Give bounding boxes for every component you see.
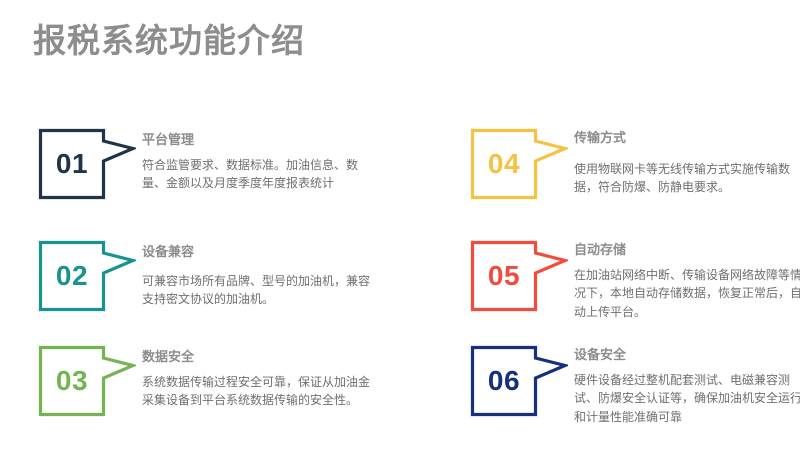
feature-heading-04: 传输方式 [574,130,800,146]
feature-text-01: 平台管理 符合监管要求、数据标准。加油信息、数量、金额以及月度季度年度报表统计 [142,132,372,193]
feature-heading-01: 平台管理 [142,132,372,148]
feature-item-05[interactable]: 05 自动存储 在加油站网络中断、传输设备网络故障等情况下，本地自动存储数据，恢… [470,240,800,345]
number-badge-06: 06 [470,345,568,417]
badge-number-06: 06 [470,345,538,417]
feature-body-04: 使用物联网卡等无线传输方式实施传输数据，符合防爆、防静电要求。 [574,160,800,197]
feature-text-04: 传输方式 使用物联网卡等无线传输方式实施传输数据，符合防爆、防静电要求。 [574,130,800,197]
badge-number-05: 05 [470,240,538,312]
feature-body-06: 硬件设备经过整机配套测试、电磁兼容测试、防爆安全认证等，确保加油机安全运行和计量… [574,371,800,427]
badge-number-01: 01 [38,128,106,200]
feature-body-01: 符合监管要求、数据标准。加油信息、数量、金额以及月度季度年度报表统计 [142,156,372,193]
feature-item-06[interactable]: 06 设备安全 硬件设备经过整机配套测试、电磁兼容测试、防爆安全认证等，确保加油… [470,345,800,450]
feature-text-03: 数据安全 系统数据传输过程安全可靠，保证从加油金采集设备到平台系统数据传输的安全… [142,349,372,410]
feature-item-03[interactable]: 03 数据安全 系统数据传输过程安全可靠，保证从加油金采集设备到平台系统数据传输… [38,345,378,450]
feature-heading-02: 设备兼容 [142,244,372,260]
feature-body-03: 系统数据传输过程安全可靠，保证从加油金采集设备到平台系统数据传输的安全性。 [142,373,372,410]
feature-item-02[interactable]: 02 设备兼容 可兼容市场所有品牌、型号的加油机，兼容支持密文协议的加油机。 [38,240,378,345]
badge-number-04: 04 [470,128,538,200]
feature-heading-05: 自动存储 [574,242,800,258]
feature-text-06: 设备安全 硬件设备经过整机配套测试、电磁兼容测试、防爆安全认证等，确保加油机安全… [574,347,800,426]
feature-text-02: 设备兼容 可兼容市场所有品牌、型号的加油机，兼容支持密文协议的加油机。 [142,244,372,309]
number-badge-05: 05 [470,240,568,312]
number-badge-02: 02 [38,240,136,312]
feature-heading-06: 设备安全 [574,347,800,363]
badge-number-03: 03 [38,345,106,417]
badge-number-02: 02 [38,240,106,312]
feature-body-02: 可兼容市场所有品牌、型号的加油机，兼容支持密文协议的加油机。 [142,272,372,309]
number-badge-01: 01 [38,128,136,200]
page-title: 报税系统功能介绍 [33,22,305,60]
feature-item-01[interactable]: 01 平台管理 符合监管要求、数据标准。加油信息、数量、金额以及月度季度年度报表… [38,128,378,233]
feature-body-05: 在加油站网络中断、传输设备网络故障等情况下，本地自动存储数据，恢复正常后，自动上… [574,266,800,322]
number-badge-03: 03 [38,345,136,417]
slide-canvas: 报税系统功能介绍 01 平台管理 符合监管要求、数据标准。加油信息、数量、金额以… [0,0,800,450]
number-badge-04: 04 [470,128,568,200]
feature-text-05: 自动存储 在加油站网络中断、传输设备网络故障等情况下，本地自动存储数据，恢复正常… [574,242,800,321]
feature-item-04[interactable]: 04 传输方式 使用物联网卡等无线传输方式实施传输数据，符合防爆、防静电要求。 [470,128,800,233]
feature-heading-03: 数据安全 [142,349,372,365]
